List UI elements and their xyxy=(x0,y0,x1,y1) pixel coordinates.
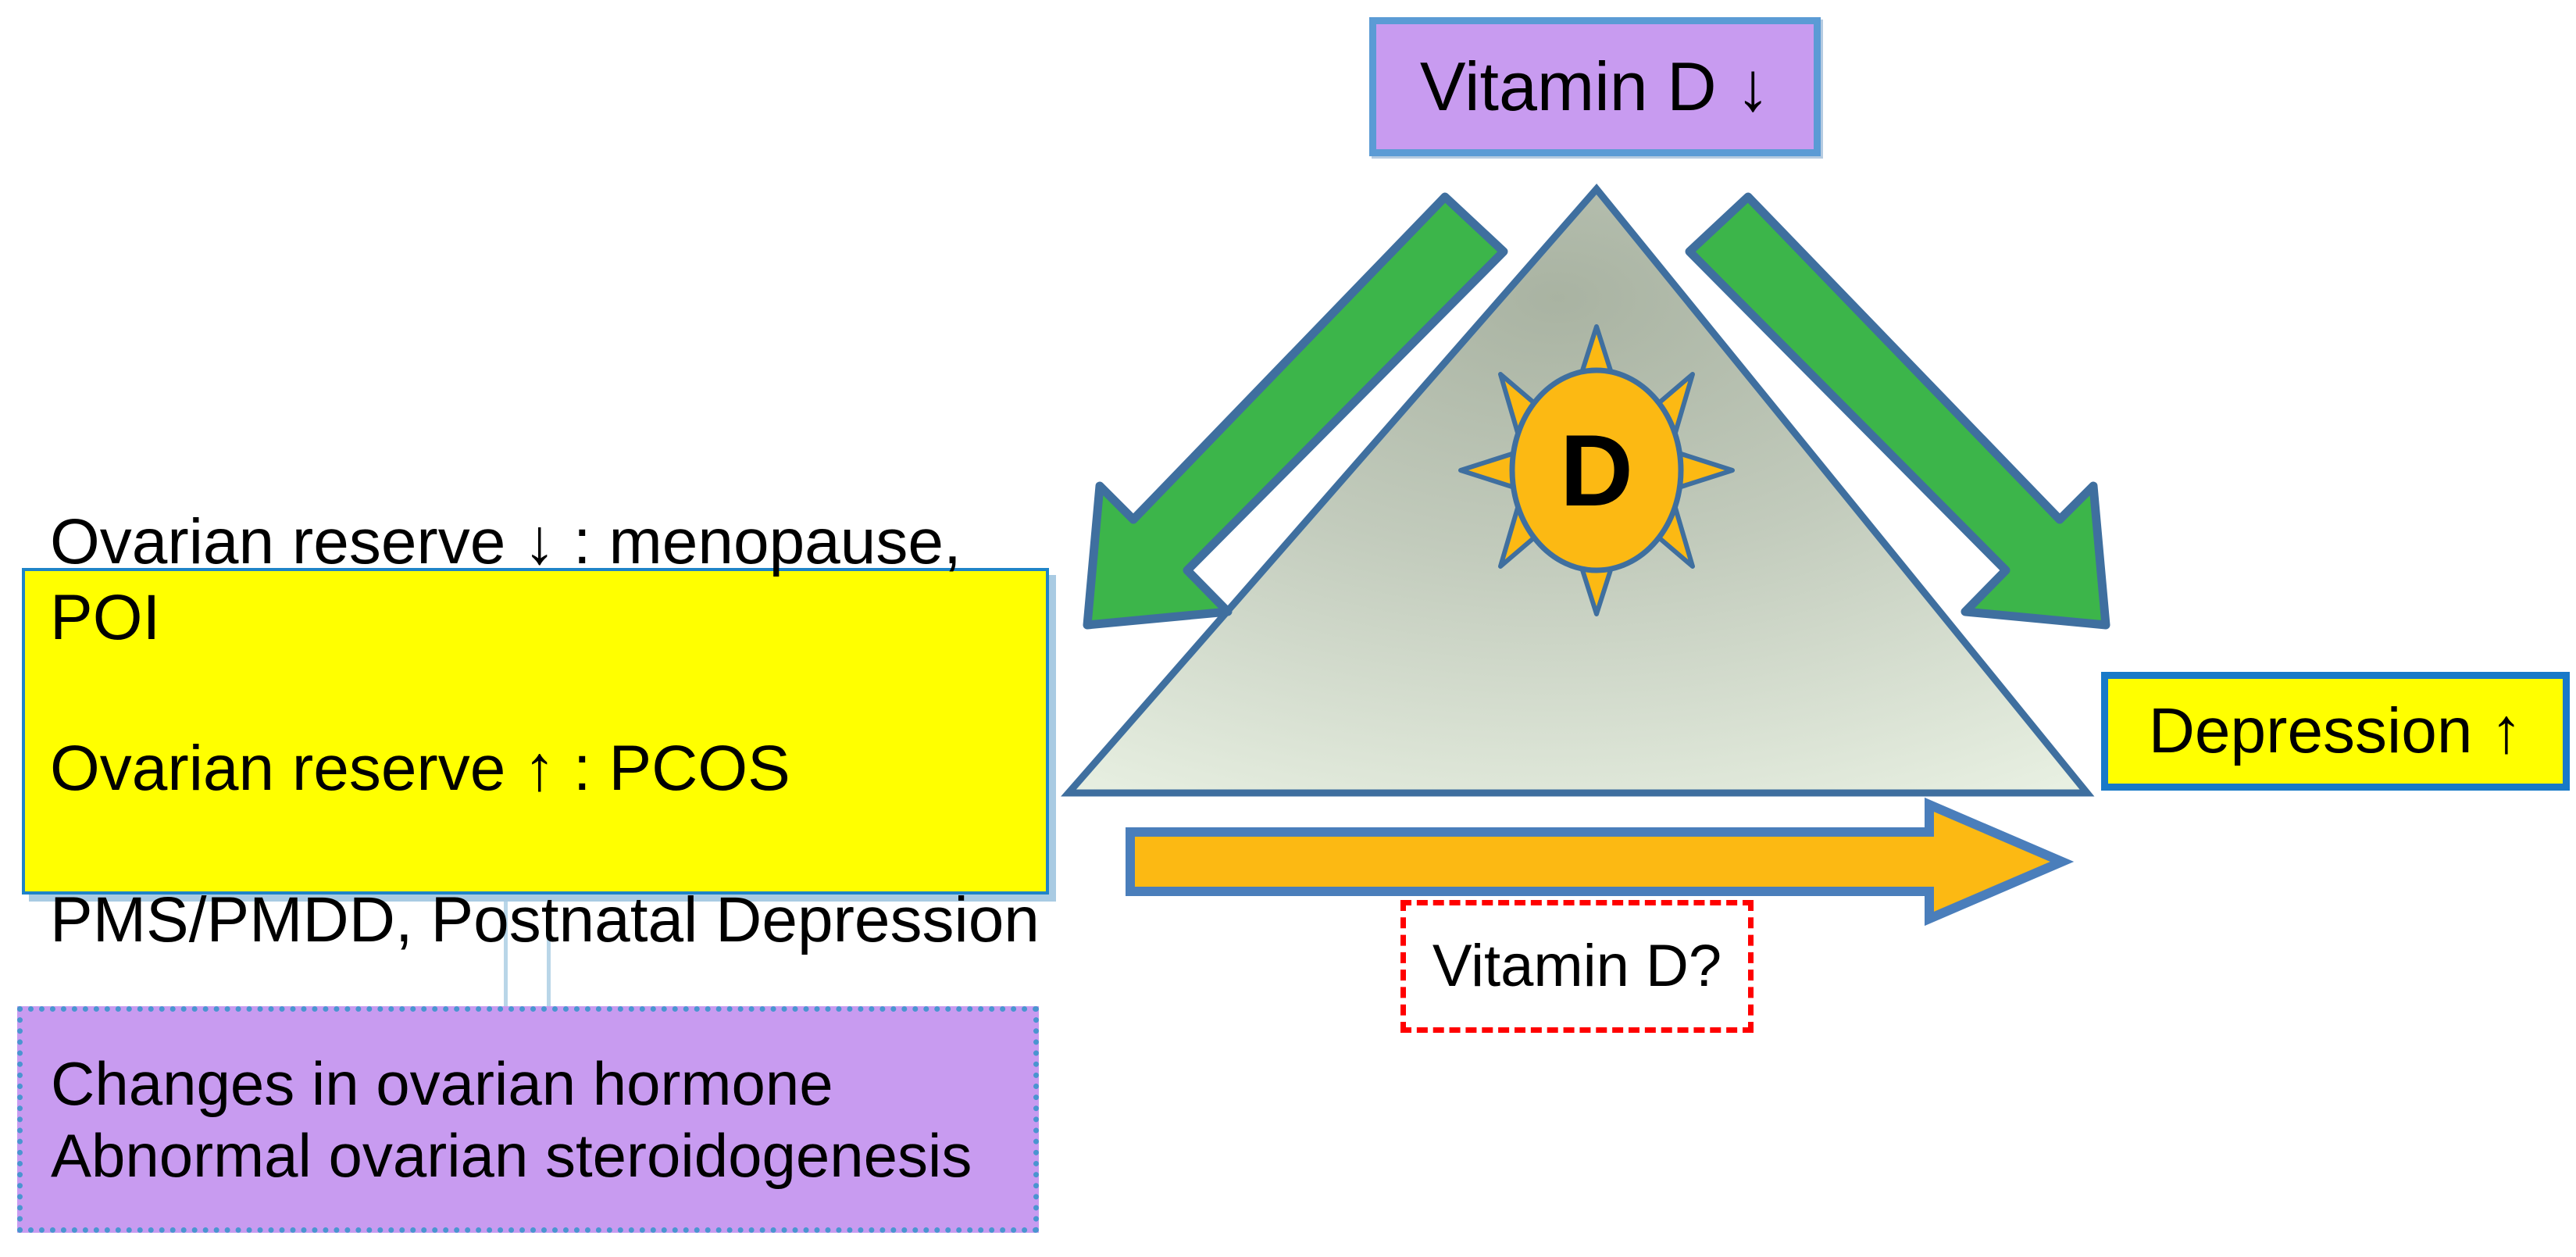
vitamin-d-label: Vitamin D ↓ xyxy=(1420,46,1770,127)
ovarian-line-1: Ovarian reserve ↓ : menopause, POI xyxy=(50,505,1046,656)
depression-label: Depression ↑ xyxy=(2149,694,2523,770)
ovarian-line-3: PMS/PMDD, Postnatal Depression xyxy=(50,883,1046,959)
depression-node[interactable]: Depression ↑ xyxy=(2101,672,2570,791)
ovarian-reserve-node[interactable]: Ovarian reserve ↓ : menopause, POI Ovari… xyxy=(22,568,1049,895)
vitamin-d-question-node[interactable]: Vitamin D? xyxy=(1400,900,1754,1033)
vitamin-d-node[interactable]: Vitamin D ↓ xyxy=(1369,17,1821,156)
hormone-line-2: Abnormal ovarian steroidogenesis xyxy=(51,1120,972,1191)
ovarian-reserve-lines: Ovarian reserve ↓ : menopause, POI Ovari… xyxy=(50,429,1046,1034)
ovarian-line-2: Ovarian reserve ↑ : PCOS xyxy=(50,731,1046,807)
sun-letter-d: D xyxy=(1560,413,1633,527)
ovarian-hormone-node[interactable]: Changes in ovarian hormone Abnormal ovar… xyxy=(17,1006,1039,1233)
diagram-canvas: D Vitamin D ↓ Ovarian reserve ↓ : menopa… xyxy=(0,0,2576,1257)
hormone-line-1: Changes in ovarian hormone xyxy=(51,1048,833,1120)
vitamin-d-question-label: Vitamin D? xyxy=(1432,931,1721,1002)
